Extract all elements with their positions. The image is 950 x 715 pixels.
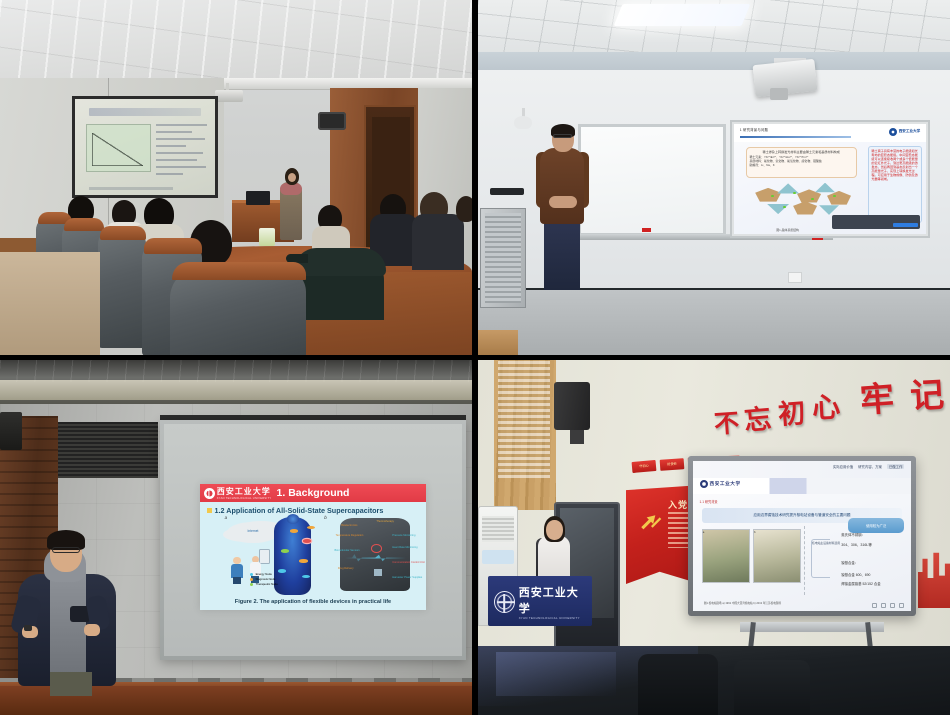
wall-slogan: 不 忘 初 心 牢 记 [714, 366, 950, 438]
photo-a [702, 529, 750, 583]
polyhedron [777, 183, 799, 196]
presenter-hand [84, 624, 100, 636]
university-seal-icon [204, 488, 215, 499]
diagnosis-node [299, 559, 307, 562]
ceiling-cove-light [0, 380, 472, 400]
slide-subtitle: 1.2 Application of All-Solid-State Super… [207, 506, 384, 515]
university-name-cn: 西安工业大学 [519, 584, 586, 616]
ceiling [0, 0, 472, 88]
slogan-char: 不 [713, 403, 740, 441]
university-seal-icon [889, 128, 897, 136]
presenter-glasses [553, 134, 572, 138]
presentation-clicker [24, 625, 32, 631]
floor [0, 252, 100, 355]
projection-screen-frame: 1 研究背景与问题 西安工业大学 稀土掺杂上转换发光材料主要由稀土元素和基质材料… [730, 120, 930, 238]
podium-university-logo: 西安工业大学 XI'AN TECHNOLOGICAL UNIVERSITY [494, 584, 586, 620]
gear-icon[interactable] [899, 603, 904, 608]
slide-header-bar: 西安工业大学 XI'AN TECHNOLOGICAL UNIVERSITY 1.… [200, 484, 426, 502]
projection-screen: 西安工业大学 XI'AN TECHNOLOGICAL UNIVERSITY 1.… [164, 424, 462, 656]
slide-title-rule [740, 136, 851, 138]
display-shelf [740, 622, 884, 632]
bullet-icon [207, 508, 212, 513]
podium-reflection [496, 652, 616, 696]
cursor-icon[interactable] [881, 603, 886, 608]
annotation: Bioelectronics [341, 524, 357, 527]
atom-node [783, 206, 785, 208]
presentation-slide: 西安工业大学 XI'AN TECHNOLOGICAL UNIVERSITY 1.… [200, 484, 426, 609]
slide-chart [86, 124, 150, 172]
photo-caption: 图1 核电站现场 a) 1991 中国大亚湾核电站 b) 2013 年江苏核电现… [704, 601, 781, 605]
conference-chair [638, 654, 718, 715]
callout-bubble: 使用较为广泛 [848, 518, 905, 533]
presenter-glasses [52, 547, 80, 553]
diagnosis-node [290, 529, 298, 532]
slide-title: 1. Background [277, 487, 350, 499]
rack-device [490, 188, 524, 195]
slide-university-logo: 西安工业大学 XI'AN TECHNOLOGICAL UNIVERSITY [200, 486, 272, 500]
tab-completed-work[interactable]: 已做工作 [887, 464, 905, 469]
chair-top-rail [172, 262, 306, 280]
diagnosis-node [307, 526, 315, 529]
projection-screen [75, 99, 215, 195]
audience-body [412, 214, 464, 270]
figure-caption: Figure 2. The application of flexible de… [235, 599, 391, 605]
slide-tab-strip[interactable]: 实际应用价值 研究内容、方案 已做工作 [833, 464, 905, 469]
polyhedron [767, 201, 789, 214]
module-icon [374, 569, 382, 575]
ac-vent [482, 516, 514, 542]
slide-text-column [156, 124, 206, 172]
annotation: Thermotherapy [376, 520, 394, 523]
presenter-face [288, 173, 296, 182]
crystal-structure-figure [753, 181, 853, 218]
polyhedron [793, 201, 817, 215]
pen-icon[interactable] [872, 603, 877, 608]
university-name: 西安工业大学 [899, 129, 921, 134]
energy-node [303, 539, 311, 542]
slide-legend: Energy Node Diagnosis Node Therapeutic N… [250, 572, 278, 588]
legend-dot-icon [250, 573, 254, 577]
internet-cloud-icon: Internet [227, 522, 279, 543]
wall-speaker [318, 112, 346, 130]
slide-text-line: 焊接金属镍基 52/152 合金 [841, 581, 880, 586]
annotation: Temperature Regulation [336, 534, 364, 537]
slide-text-line: 镍基合金 600、690 [841, 572, 870, 577]
ceiling-camera-icon [514, 116, 532, 129]
slide-university-logo: 西安工业大学 [889, 127, 920, 137]
projection-screen-frame [72, 96, 218, 198]
university-name-cn: 西安工业大学 [217, 486, 272, 497]
smart-display[interactable]: 实际应用价值 研究内容、方案 已做工作 西安工业大学 1.1 研究背景 应用边界… [688, 456, 916, 616]
slide-content-box: 稀土掺杂上转换发光材料主要由稀土元素和基质材料构成 稀土元素：Yb³⁺/Er³⁺… [746, 147, 857, 178]
energy-node [302, 575, 310, 578]
tab-research-content[interactable]: 研究内容、方案 [858, 464, 882, 469]
chair-top-rail [144, 238, 202, 254]
person-legs [233, 577, 241, 585]
photo-b [753, 529, 801, 583]
ribbon-label: 守初心 [632, 460, 657, 473]
ceiling-projector [215, 90, 243, 102]
floor [478, 290, 950, 355]
tab-practical-value[interactable]: 实际应用价值 [833, 464, 853, 469]
photo-panel-lecture-hall: 西安工业大学 XI'AN TECHNOLOGICAL UNIVERSITY 1.… [0, 360, 472, 715]
smart-shirt-figure [340, 518, 410, 591]
projection-booth-window [58, 422, 158, 478]
human-head-figure [287, 514, 299, 523]
slogan-char: 心 [811, 385, 841, 426]
atom-node [793, 192, 795, 194]
university-name-en: XI'AN TECHNOLOGICAL UNIVERSITY [519, 616, 586, 620]
display-screen[interactable]: 实际应用价值 研究内容、方案 已做工作 西安工业大学 1.1 研究背景 应用边界… [693, 461, 911, 611]
subfigure-label-a: a [225, 515, 228, 520]
slide-text-line: 304、306、316L等 [841, 543, 872, 548]
presenter-legs [544, 222, 580, 290]
ac-display-panel [482, 550, 514, 564]
presenter-body [540, 148, 584, 224]
callout-text: 使用较为广泛 [866, 523, 886, 528]
audience-head [456, 196, 472, 222]
chair [98, 230, 146, 348]
figure-caption: 图1 晶体基质结构 [776, 228, 799, 232]
slide-text-line: 镍基合金： [841, 560, 858, 565]
slide-divider [804, 526, 805, 595]
chair-top-rail [100, 226, 146, 240]
presenter-hoodie [50, 572, 86, 676]
ceiling-light-panel [614, 4, 751, 26]
chair-top-rail [64, 218, 104, 231]
wall-speaker [554, 382, 590, 430]
university-name: 西安工业大学 [710, 481, 741, 487]
brace-label: 核电站主设备材料选用 [812, 542, 840, 546]
conference-chair [734, 660, 810, 715]
slide-box-heading: 稀土掺杂上转换发光材料主要由稀土元素和基质材料构成 [750, 150, 853, 154]
therapeutic-node [281, 549, 289, 552]
photo-a-label: a [703, 530, 705, 534]
person-figure [231, 557, 242, 585]
ribbon-label: 担使命 [660, 458, 685, 471]
presenter-hands [549, 196, 577, 208]
photo-panel-classroom: 1 研究背景与问题 西安工业大学 稀土掺杂上转换发光材料主要由稀土元素和基质材料… [478, 0, 950, 355]
slide-section-tag: 1.1 研究背景 [700, 499, 718, 504]
slide-side-text: 稀土离子具有丰富的电子能级和长寿命的亚稳态能级。中间亚稳态能级可以连续吸收两个或… [871, 149, 919, 181]
projection-screen: 1 研究背景与问题 西安工业大学 稀土掺杂上转换发光材料主要由稀土元素和基质材料… [734, 124, 926, 234]
annotation: Drug Delivery [338, 567, 354, 570]
slogan-char: 记 [909, 367, 946, 418]
wall-speaker [0, 412, 22, 450]
annotation: Pressure Monitoring [392, 534, 415, 537]
legend-dot-icon [250, 583, 254, 587]
photo-collage: 1 研究背景与问题 西安工业大学 稀土掺杂上转换发光材料主要由稀土元素和基质材料… [0, 0, 950, 715]
podium-laptop [246, 191, 270, 205]
wall-upper-band [478, 52, 950, 72]
baseboard [0, 238, 36, 252]
university-seal-icon [494, 591, 515, 613]
legend-label: Therapeutic Node [256, 582, 278, 586]
popup-confirm-button[interactable] [893, 223, 918, 227]
equipment-rack [480, 208, 526, 308]
atom-node [771, 195, 773, 197]
slogan-char: 牢 [858, 371, 895, 422]
slide-university-logo: 西安工业大学 [700, 480, 741, 488]
marker-red [642, 228, 651, 232]
annotation: Biomolecular Sensors [334, 549, 359, 552]
cloud-label: Internet [248, 529, 259, 533]
annotation: Communication Control Unit [392, 561, 424, 564]
annotation: Heart Rate Monitoring [392, 546, 417, 549]
slide-title: 1 研究背景与问题 [740, 127, 768, 132]
slide-box-line: 助熔剂：Li、Na、K [750, 164, 853, 168]
annotation: Harvester Power Supplies [392, 576, 422, 579]
projector-lens [770, 88, 788, 100]
polyhedron [827, 191, 851, 206]
window-blind [498, 360, 550, 478]
ribbon-item: 担使命 [660, 458, 685, 471]
slide-title-bar [89, 108, 201, 117]
person-torso [231, 564, 242, 578]
tissue-box [259, 228, 275, 246]
slide-subtitle-text: 1.2 Application of All-Solid-State Super… [215, 506, 384, 515]
slide-caption [89, 187, 173, 190]
photo-panel-conference-room [0, 0, 472, 355]
ribbon-item: 守初心 [632, 460, 657, 473]
photo-panel-party-room: 不 忘 初 心 牢 记 守初心 担使命 找差距 抓落实 入党誓词 [478, 360, 950, 715]
slide-banner-text: 应用边界腐蚀技术研究提升核电站设备与管道安全的主要问题 [753, 513, 850, 518]
legend-item: Therapeutic Node [250, 582, 278, 587]
wall-outlet [788, 272, 802, 283]
university-name-en: XI'AN TECHNOLOGICAL UNIVERSITY [217, 497, 272, 500]
party-emblem-icon [638, 512, 664, 538]
chair [170, 268, 306, 355]
photo-b-label: b [754, 530, 756, 534]
whiteboard [578, 124, 726, 236]
presenter-trousers [50, 672, 92, 696]
energy-node [278, 569, 286, 572]
presenter-head [546, 520, 563, 540]
legend-dot-icon [250, 578, 254, 582]
slide-side-text-box: 稀土离子具有丰富的电子能级和长寿命的亚稳态能级。中间亚稳态能级可以连续吸收两个或… [868, 146, 922, 223]
slogan-char: 忘 [742, 397, 772, 438]
display-toolbar[interactable] [872, 603, 904, 608]
side-desk [478, 330, 518, 355]
polyhedron [755, 188, 781, 203]
slogan-char: 初 [777, 391, 807, 432]
subfigure-label-b: b [324, 515, 327, 520]
legend-label: Energy Node [256, 572, 272, 576]
legend-label: Diagnosis Node [256, 577, 276, 581]
university-seal-icon [700, 480, 708, 488]
grid-icon[interactable] [890, 603, 895, 608]
projection-screen-frame: 西安工业大学 XI'AN TECHNOLOGICAL UNIVERSITY 1.… [160, 420, 466, 660]
